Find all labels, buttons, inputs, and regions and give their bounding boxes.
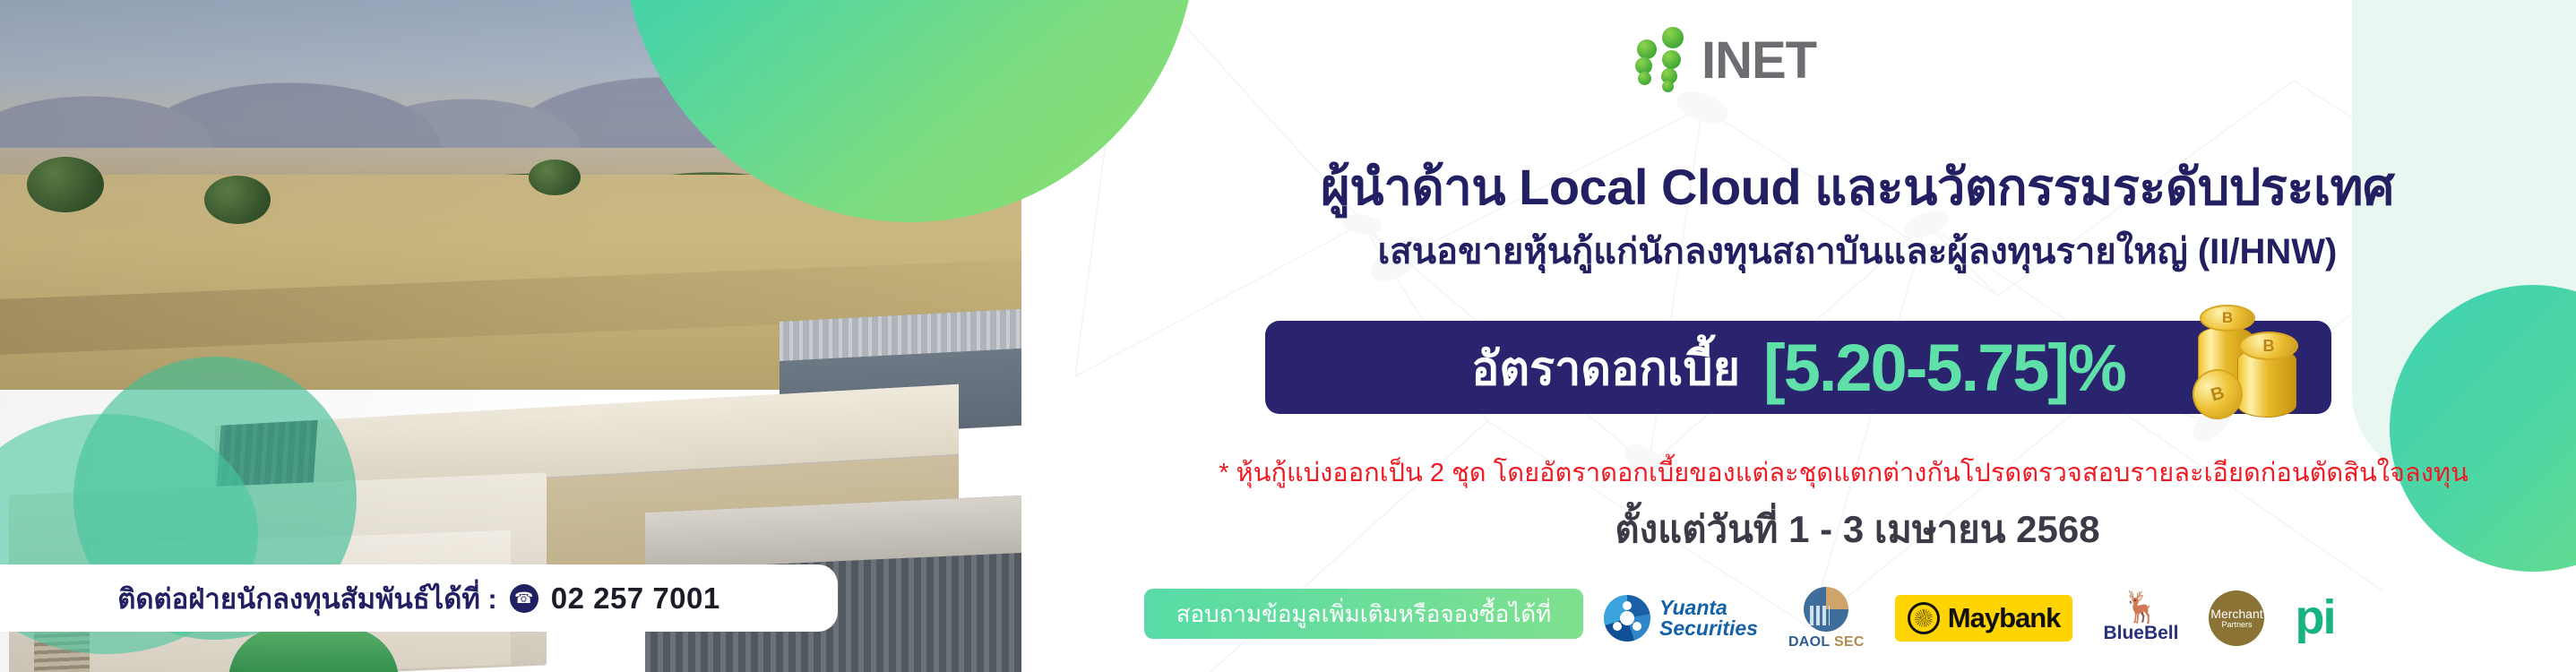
partner-daol[interactable]: DAOL SEC	[1788, 587, 1865, 650]
daol-line1: DAOL	[1788, 634, 1830, 650]
partner-pi[interactable]: pi	[2295, 599, 2334, 637]
inet-logo[interactable]: INET	[1635, 13, 1816, 84]
disclaimer-note: * หุ้นกู้แบ่งออกเป็น 2 ชุด โดยอัตราดอกเบ…	[1124, 452, 2563, 493]
gold-coin-stack-icon: B B B	[2193, 296, 2309, 426]
photo-tree	[27, 157, 104, 212]
rate-value: [5.20-5.75]%	[1763, 330, 2125, 406]
partner-bluebell[interactable]: 🦌 BlueBell	[2103, 592, 2178, 644]
inet-wordmark: INET	[1702, 37, 1816, 84]
maybank-wordmark: Maybank	[1948, 602, 2061, 634]
yuanta-line2: Securities	[1659, 618, 1758, 639]
interest-rate-banner: อัตราดอกเบี้ย [5.20-5.75]%	[1265, 321, 2331, 414]
merchant-circle-icon: Merchant Partners	[2209, 590, 2264, 646]
yuanta-line1: Yuanta	[1659, 598, 1758, 618]
photo-tree	[529, 159, 581, 195]
rate-label: อัตราดอกเบี้ย	[1471, 331, 1740, 405]
daol-line2: SEC	[1834, 634, 1865, 650]
merchant-line1: Merchant	[2210, 607, 2262, 621]
promo-banner: INET ผู้นำด้าน Local Cloud และนวัตกรรมระ…	[0, 0, 2576, 672]
contact-label: ติดต่อฝ่ายนักลงทุนสัมพันธ์ได้ที่ :	[117, 576, 496, 621]
cta-button[interactable]: สอบถามข้อมูลเพิ่มเติมหรือจองซื้อได้ที่	[1144, 589, 1583, 639]
offer-dateline: ตั้งแต่วันที่ 1 - 3 เมษายน 2568	[1194, 500, 2520, 559]
partner-merchant[interactable]: Merchant Partners	[2209, 590, 2264, 646]
daol-circle-icon	[1804, 587, 1848, 632]
photo-tree	[204, 176, 271, 224]
partner-yuanta[interactable]: Yuanta Securities	[1604, 595, 1758, 642]
bluebell-wordmark: BlueBell	[2103, 623, 2178, 644]
yuanta-star-icon	[1604, 595, 1650, 642]
contact-phone[interactable]: 02 257 7001	[551, 582, 720, 616]
pi-wordmark-icon: pi	[2295, 599, 2334, 637]
phone-icon: ☎	[510, 584, 538, 613]
headline: ผู้นำด้าน Local Cloud และนวัตกรรมระดับปร…	[1194, 147, 2520, 227]
merchant-line2: Partners	[2221, 621, 2252, 629]
partner-maybank[interactable]: Maybank	[1895, 595, 2073, 642]
maybank-tiger-icon	[1908, 602, 1940, 634]
inet-dots-icon	[1635, 13, 1698, 84]
partner-logos: Yuanta Securities DAOL SEC Maybank 🦌 Blu…	[1604, 581, 2545, 656]
subheadline: เสนอขายหุ้นกู้แก่นักลงทุนสถาบันและผู้ลงท…	[1194, 222, 2520, 280]
bluebell-deer-icon: 🦌	[2122, 592, 2159, 623]
contact-card: ติดต่อฝ่ายนักลงทุนสัมพันธ์ได้ที่ : ☎ 02 …	[0, 564, 838, 632]
